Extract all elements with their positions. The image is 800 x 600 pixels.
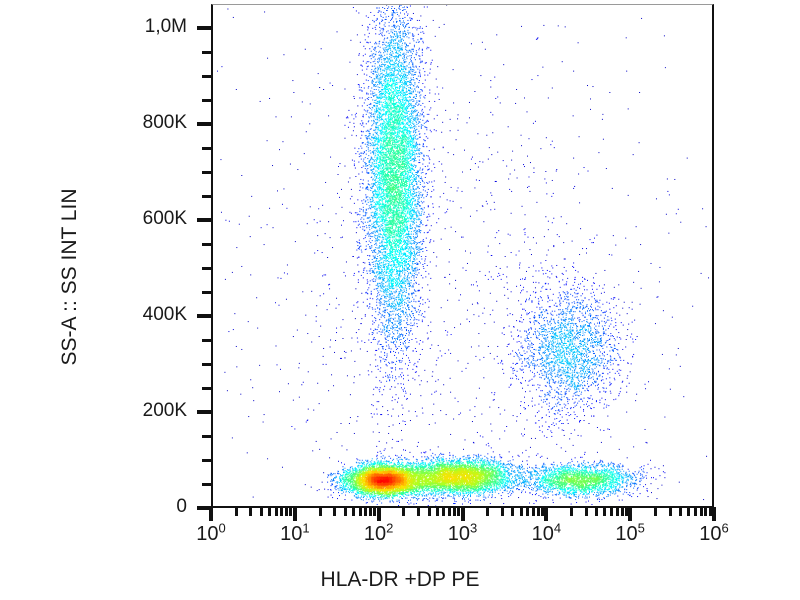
y-axis-tick-minor [202,267,211,270]
y-axis-tick-label-wrap: 0 [90,497,187,517]
y-axis-tick-minor [202,243,211,246]
y-axis-tick-minor [202,435,211,438]
x-axis-tick-minor [442,507,445,516]
x-axis-tick-minor [260,507,263,516]
y-axis-tick-minor [202,171,211,174]
y-axis-tick-major [197,122,211,126]
y-axis-title: SS-A :: SS INT LIN [58,167,82,387]
x-axis-tick-minor [289,507,292,516]
x-axis-tick-minor [625,507,628,516]
y-axis-tick-label: 1,0M [145,17,187,36]
y-axis-tick-minor [202,99,211,102]
plot-area [211,4,714,508]
y-axis-tick-label-wrap: 800K [90,113,187,133]
y-axis-tick-minor [202,51,211,54]
y-axis-tick-minor [202,339,211,342]
x-axis-tick-minor [364,507,367,516]
x-axis-tick-minor [344,507,347,516]
x-axis-tick-minor [285,507,288,516]
x-axis-tick-minor [700,507,703,516]
x-axis-tick-minor [369,507,372,516]
x-axis-tick-minor [280,507,283,516]
x-axis-tick-minor [417,507,420,516]
scatter-density-canvas [213,5,712,506]
x-axis-tick-major [377,507,381,521]
y-axis-tick-label: 800K [143,113,187,132]
y-axis-tick-minor [202,75,211,78]
x-axis-tick-minor [603,507,606,516]
x-axis-tick-minor [585,507,588,516]
x-axis-tick-minor [402,507,405,516]
x-axis-tick-label: 106 [699,524,728,544]
y-axis-tick-major [197,410,211,414]
x-axis-tick-minor [694,507,697,516]
x-axis-tick-label: 104 [532,524,561,544]
x-axis-tick-minor [352,507,355,516]
y-axis-tick-label-wrap: 600K [90,209,187,229]
flow-cytometry-plot: 0200K400K600K800K1,0M SS-A :: SS INT LIN… [0,0,800,600]
y-axis-tick-minor [202,459,211,462]
x-axis-tick-major [293,507,297,521]
x-axis-tick-minor [501,507,504,516]
x-axis-tick-minor [610,507,613,516]
y-axis-tick-minor [202,483,211,486]
x-axis-title: HLA-DR +DP PE [0,568,800,592]
x-axis-tick-minor [704,507,707,516]
y-axis-tick-label-wrap: 400K [90,305,187,325]
x-axis-tick-minor [595,507,598,516]
x-axis-tick-minor [511,507,514,516]
x-axis-tick-major [461,507,465,521]
x-axis-tick-minor [679,507,682,516]
x-axis-tick-minor [541,507,544,516]
y-axis-tick-minor [202,147,211,150]
x-axis-tick-minor [268,507,271,516]
x-axis-tick-minor [249,507,252,516]
x-axis-tick-minor [669,507,672,516]
y-axis-tick-minor [202,195,211,198]
x-axis-tick-minor [709,507,712,516]
x-axis-tick-minor [570,507,573,516]
x-axis-tick-minor [457,507,460,516]
x-axis-tick-minor [537,507,540,516]
x-axis-tick-label: 105 [615,524,644,544]
y-axis-tick-minor [202,387,211,390]
x-axis-tick-minor [428,507,431,516]
x-axis-tick-major [209,507,213,521]
x-axis-tick-minor [616,507,619,516]
y-axis-tick-major [197,314,211,318]
x-axis-tick-minor [532,507,535,516]
y-axis-tick-label: 200K [143,401,187,420]
x-axis-tick-minor [621,507,624,516]
x-axis-tick-major [712,507,716,521]
x-axis-tick-minor [436,507,439,516]
x-axis-tick-minor [687,507,690,516]
y-axis-tick-label-wrap: 1,0M [90,17,187,37]
x-axis-tick-minor [486,507,489,516]
x-axis-tick-minor [319,507,322,516]
y-axis-tick-major [197,218,211,222]
y-axis-tick-label: 0 [176,497,187,516]
x-axis-tick-minor [654,507,657,516]
x-axis-tick-label: 100 [196,524,225,544]
x-axis-tick-minor [275,507,278,516]
x-axis-tick-minor [359,507,362,516]
x-axis-tick-minor [448,507,451,516]
x-axis-tick-label: 101 [280,524,309,544]
x-axis-tick-minor [333,507,336,516]
y-axis-tick-label-wrap: 200K [90,401,187,421]
x-axis-tick-label: 102 [364,524,393,544]
x-axis-tick-major [628,507,632,521]
x-axis-tick-major [544,507,548,521]
y-axis-tick-label: 600K [143,209,187,228]
x-axis-tick-minor [526,507,529,516]
y-axis-tick-major [197,26,211,30]
y-axis-tick-label: 400K [143,305,187,324]
x-axis-tick-minor [373,507,376,516]
x-axis-tick-minor [520,507,523,516]
x-axis-tick-label: 103 [448,524,477,544]
y-axis-tick-minor [202,363,211,366]
x-axis-tick-minor [453,507,456,516]
y-axis-tick-minor [202,291,211,294]
x-axis-tick-minor [235,507,238,516]
